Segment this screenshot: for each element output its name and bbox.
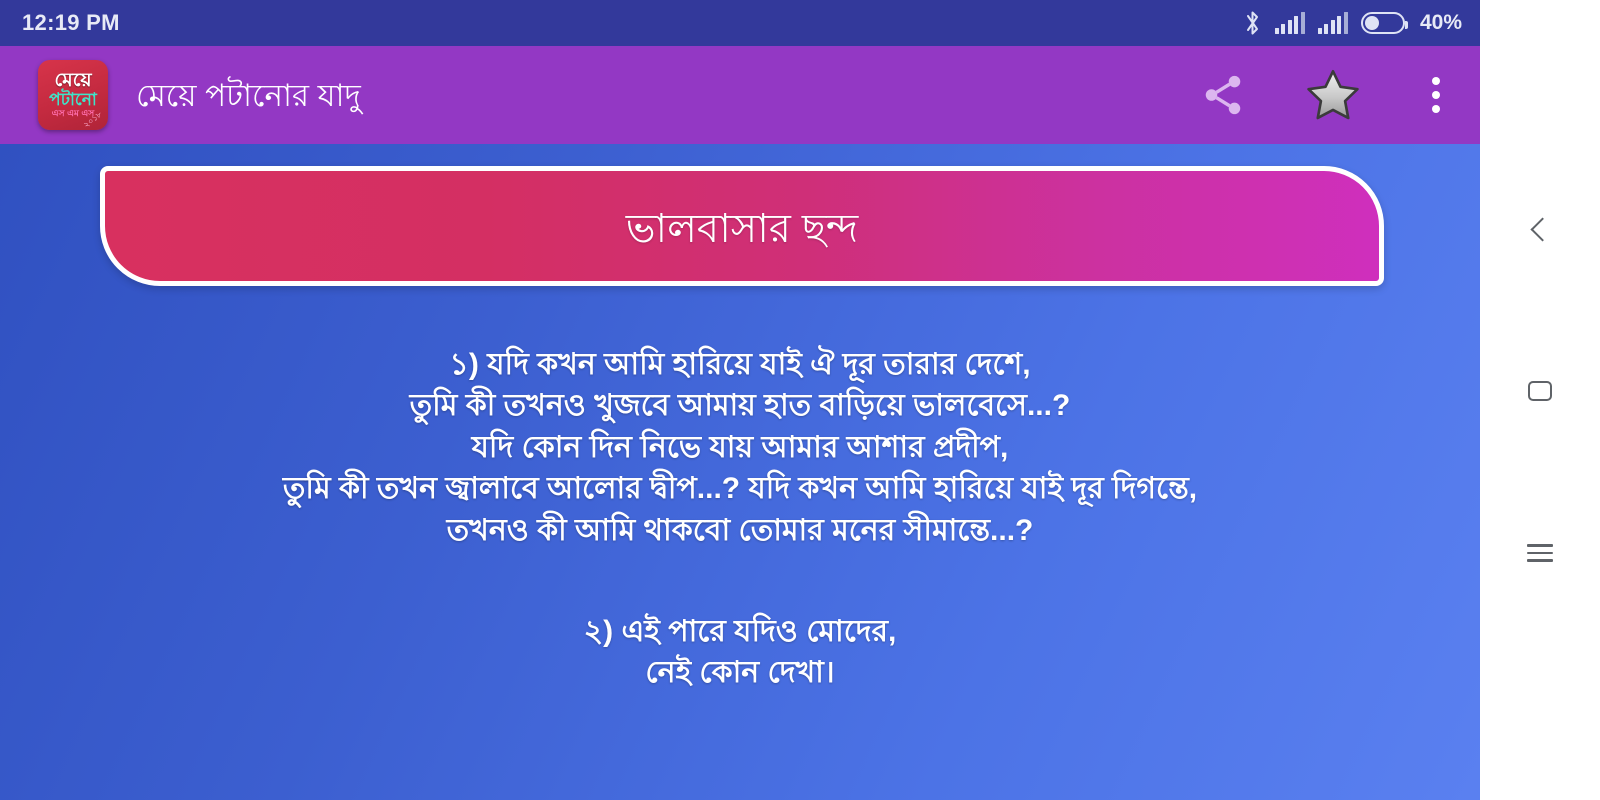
status-bar-icons: 40%	[1244, 10, 1462, 36]
poem-line: তুমি কী তখন জ্বালাবে আলোর দ্বীপ...? যদি …	[60, 468, 1420, 509]
signal-icon-sim2	[1318, 12, 1348, 34]
poem-line: তখনও কী আমি থাকবো তোমার মনের সীমান্তে...…	[60, 510, 1420, 551]
app-logo-line2: পটানো	[49, 91, 97, 110]
battery-percent-label: 40%	[1420, 11, 1462, 35]
status-bar: 12:19 PM 40%	[0, 0, 1480, 46]
signal-icon-sim1	[1275, 12, 1305, 34]
nav-back-button[interactable]	[1480, 200, 1600, 258]
poem-item: ১) যদি কখন আমি হারিয়ে যাই ঐ দূর তারার দ…	[60, 344, 1420, 551]
poem-line: তুমি কী তখনও খুজবে আমায় হাত বাড়িয়ে ভা…	[60, 385, 1420, 426]
poem-item: ২) এই পারে যদিও মোদের, নেই কোন দেখা।	[60, 611, 1420, 694]
app-bar-actions	[1200, 66, 1458, 124]
nav-home-button[interactable]	[1480, 362, 1600, 420]
poem-line: নেই কোন দেখা।	[60, 652, 1420, 693]
app-logo-icon: মেয়ে পটানো এস এম এস ২০১৮	[38, 60, 108, 130]
section-title-label: ভালবাসার ছন্দ	[626, 203, 859, 249]
hamburger-icon	[1527, 544, 1553, 561]
favorite-button[interactable]	[1304, 66, 1362, 124]
app-logo-line1: মেয়ে	[54, 71, 91, 91]
bluetooth-icon	[1244, 10, 1262, 36]
share-button[interactable]	[1200, 72, 1246, 118]
phone-viewport: 12:19 PM 40% মেয়ে পটানো এস এম এস ২০১৮ ম…	[0, 0, 1480, 800]
more-vertical-icon	[1432, 77, 1440, 85]
poem-line: ১) যদি কখন আমি হারিয়ে যাই ঐ দূর তারার দ…	[60, 344, 1420, 385]
poem-list: ১) যদি কখন আমি হারিয়ে যাই ঐ দূর তারার দ…	[0, 344, 1480, 694]
system-nav-bar	[1480, 0, 1600, 800]
star-icon	[1304, 66, 1362, 124]
poem-line: ২) এই পারে যদিও মোদের,	[60, 611, 1420, 652]
overflow-menu-button[interactable]	[1420, 73, 1452, 117]
app-bar-title: মেয়ে পটানোর যাদু	[136, 80, 361, 111]
square-icon	[1528, 381, 1552, 401]
status-bar-clock: 12:19 PM	[22, 10, 120, 36]
section-title-banner: ভালবাসার ছন্দ	[100, 166, 1384, 286]
share-icon	[1200, 72, 1246, 118]
app-bar: মেয়ে পটানো এস এম এস ২০১৮ মেয়ে পটানোর য…	[0, 46, 1480, 144]
screen-root: 12:19 PM 40% মেয়ে পটানো এস এম এস ২০১৮ ম…	[0, 0, 1600, 800]
poem-line: যদি কোন দিন নিভে যায় আমার আশার প্রদীপ,	[60, 427, 1420, 468]
nav-recents-button[interactable]	[1480, 524, 1600, 582]
content-area: ভালবাসার ছন্দ ১) যদি কখন আমি হারিয়ে যাই…	[0, 144, 1480, 800]
battery-icon	[1361, 12, 1405, 34]
chevron-left-icon	[1530, 217, 1554, 241]
